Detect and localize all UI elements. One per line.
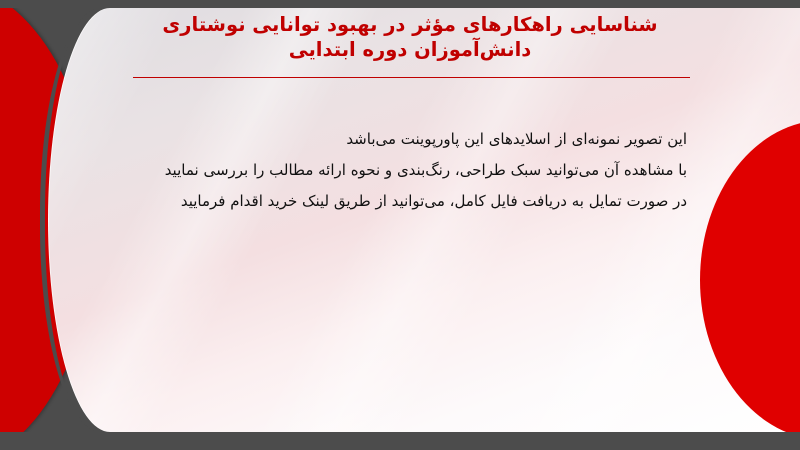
slide-title-line-2: دانش‌آموزان دوره ابتدایی — [90, 37, 730, 62]
body-text-line-2: با مشاهده آن می‌توانید سبک طراحی، رنگ‌بن… — [165, 155, 687, 186]
title-underline-rule — [133, 77, 690, 78]
body-text-line-3: در صورت تمایل به دریافت فایل کامل، می‌تو… — [165, 186, 687, 217]
slide-title-line-1: شناسایی راهکارهای مؤثر در بهبود توانایی … — [90, 12, 730, 37]
body-text-line-1: این تصویر نمونه‌ای از اسلایدهای این پاور… — [165, 124, 687, 155]
slide-body-text: این تصویر نمونه‌ای از اسلایدهای این پاور… — [165, 124, 687, 217]
slide-top-border — [0, 0, 800, 8]
slide-content-panel — [48, 8, 800, 432]
slide-bottom-border — [0, 432, 800, 450]
slide-title: شناسایی راهکارهای مؤثر در بهبود توانایی … — [90, 12, 730, 62]
presentation-slide: شناسایی راهکارهای مؤثر در بهبود توانایی … — [0, 0, 800, 450]
